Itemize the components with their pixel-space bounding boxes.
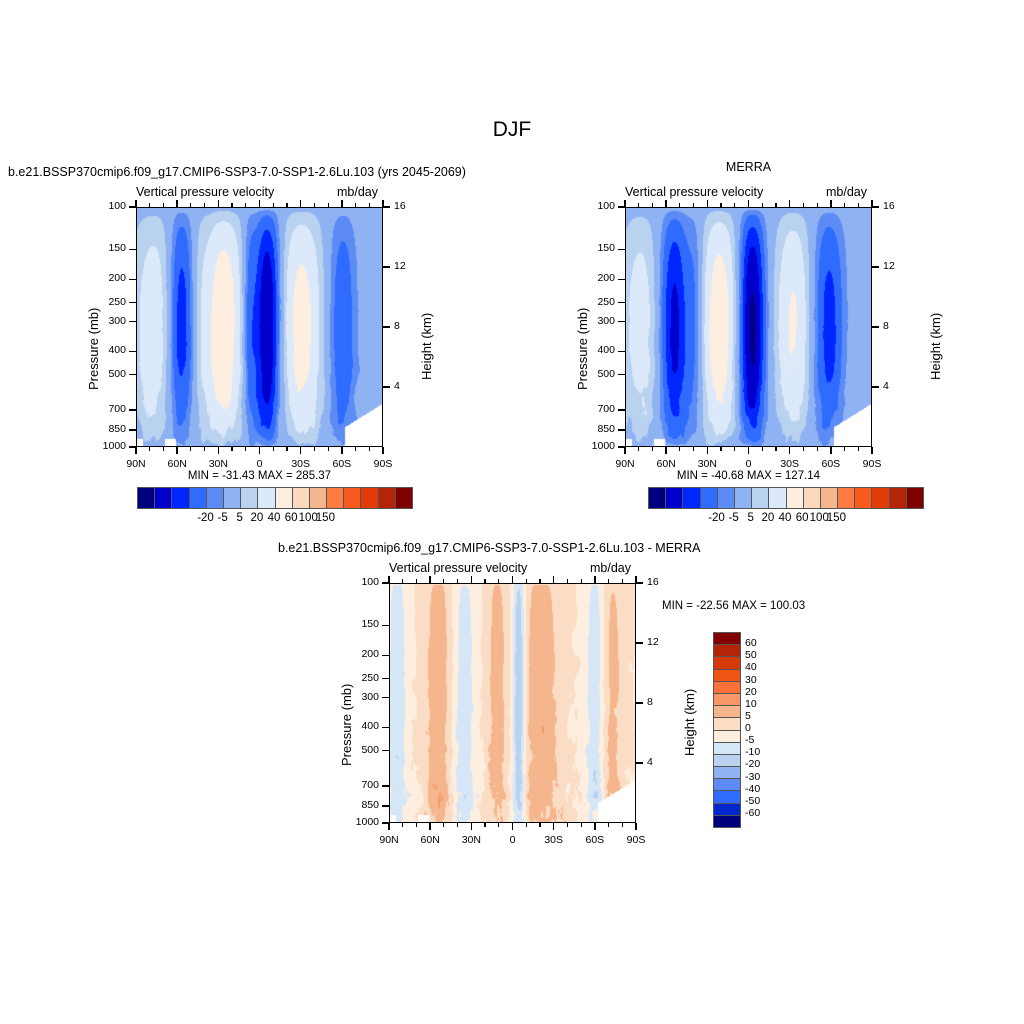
bt-lat-minor-tick-top: [622, 579, 623, 583]
colorbar-diff-tick-label: -40: [745, 783, 760, 795]
tr-height-label: 16: [883, 200, 895, 212]
tl-lat-tick-top: [382, 200, 383, 207]
tl-height-tick: [383, 206, 390, 207]
tl-pressure-label: 1000: [88, 440, 126, 452]
bt-lat-minor-tick-top: [457, 579, 458, 583]
colorbar-cell: [714, 633, 740, 645]
bt-height-label: 4: [647, 756, 653, 768]
panel-top-right-y2label: Height (km): [928, 313, 943, 380]
bt-lat-minor-tick: [608, 823, 609, 827]
bt-pressure-label: 200: [341, 648, 379, 660]
tr-lat-label: 90N: [605, 458, 645, 470]
colorbar-cell: [683, 488, 700, 508]
colorbar-cell: [714, 682, 740, 694]
bt-pressure-tick: [382, 805, 389, 806]
colorbar-cell: [838, 488, 855, 508]
tr-pressure-tick: [618, 249, 625, 250]
tr-lat-minor-tick: [858, 447, 859, 451]
tl-pressure-tick: [129, 374, 136, 375]
colorbar-cell: [714, 743, 740, 755]
tl-lat-minor-tick: [328, 447, 329, 451]
tl-lat-tick-top: [259, 200, 260, 207]
bt-pressure-label: 300: [341, 691, 379, 703]
tl-pressure-label: 100: [88, 200, 126, 212]
bt-lat-minor-tick: [484, 823, 485, 827]
colorbar-cell: [714, 706, 740, 718]
tr-pressure-label: 500: [577, 368, 615, 380]
colorbar-cell: [890, 488, 907, 508]
tr-lat-minor-tick-top: [734, 203, 735, 207]
bt-lat-label: 60N: [410, 834, 450, 846]
colorbar-cell: [155, 488, 172, 508]
colorbar-diff-tick-label: -30: [745, 771, 760, 783]
tl-pressure-label: 300: [88, 315, 126, 327]
colorbar-cell: [701, 488, 718, 508]
colorbar-diff-tick-label: 30: [745, 674, 757, 686]
colorbar-cell: [714, 670, 740, 682]
tl-pressure-tick: [129, 409, 136, 410]
tr-pressure-label: 150: [577, 242, 615, 254]
tl-pressure-label: 150: [88, 242, 126, 254]
colorbar-cell: [714, 731, 740, 743]
panel-top-left-title: b.e21.BSSP370cmip6.f09_g17.CMIP6-SSP3-7.…: [8, 165, 466, 179]
tr-pressure-tick: [618, 351, 625, 352]
tr-pressure-label: 200: [577, 272, 615, 284]
tl-lat-minor-tick-top: [149, 203, 150, 207]
tl-pressure-tick: [129, 321, 136, 322]
tl-pressure-label: 200: [88, 272, 126, 284]
colorbar-diff-tick-label: 50: [745, 649, 757, 661]
bt-lat-minor-tick-top: [581, 579, 582, 583]
tr-height-tick: [872, 386, 879, 387]
tl-lat-minor-tick: [355, 447, 356, 451]
tr-lat-minor-tick-top: [638, 203, 639, 207]
tl-height-tick: [383, 386, 390, 387]
colorbar-cell: [666, 488, 683, 508]
tr-lat-tick-top: [624, 200, 625, 207]
bt-pressure-tick: [382, 785, 389, 786]
colorbar-cell: [714, 779, 740, 791]
bt-lat-tick: [512, 823, 513, 830]
colorbar-cell: [714, 816, 740, 827]
tl-lat-label: 30N: [198, 458, 238, 470]
bt-lat-tick: [388, 823, 389, 830]
tr-lat-minor-tick: [775, 447, 776, 451]
bt-lat-tick-top: [594, 576, 595, 583]
colorbar-diff-tick-label: 40: [745, 661, 757, 673]
colorbar-cell: [327, 488, 344, 508]
tl-height-label: 4: [394, 380, 400, 392]
panel-top-left-minmax: MIN = -31.43 MAX = 285.37: [136, 470, 383, 482]
panel-top-left-colorbar[interactable]: [137, 487, 413, 509]
bt-height-tick: [636, 582, 643, 583]
bt-lat-label: 90N: [369, 834, 409, 846]
tr-pressure-label: 100: [577, 200, 615, 212]
panel-top-right-minmax: MIN = -40.68 MAX = 127.14: [625, 470, 872, 482]
colorbar-cell: [821, 488, 838, 508]
bt-lat-minor-tick-top: [526, 579, 527, 583]
tl-lat-label: 90S: [363, 458, 403, 470]
bt-height-tick: [636, 642, 643, 643]
tl-lat-tick-top: [300, 200, 301, 207]
bt-lat-minor-tick-top: [498, 579, 499, 583]
tl-lat-minor-tick: [273, 447, 274, 451]
tl-pressure-tick: [129, 249, 136, 250]
bt-height-tick: [636, 702, 643, 703]
tl-lat-minor-tick-top: [273, 203, 274, 207]
colorbar-cell: [769, 488, 786, 508]
tr-lat-minor-tick-top: [844, 203, 845, 207]
tr-pressure-label: 700: [577, 403, 615, 415]
tl-pressure-tick: [129, 279, 136, 280]
bt-lat-minor-tick: [539, 823, 540, 827]
tr-lat-tick: [707, 447, 708, 454]
tr-lat-tick: [748, 447, 749, 454]
colorbar-diff-tick-label: 5: [745, 710, 751, 722]
tr-lat-minor-tick: [817, 447, 818, 451]
tl-lat-minor-tick: [286, 447, 287, 451]
colorbar-cell: [241, 488, 258, 508]
colorbar-cell: [872, 488, 889, 508]
tl-height-label: 8: [394, 320, 400, 332]
tl-lat-minor-tick: [190, 447, 191, 451]
tr-lat-minor-tick: [803, 447, 804, 451]
tr-lat-minor-tick: [638, 447, 639, 451]
tr-height-tick: [872, 266, 879, 267]
tl-lat-tick-top: [341, 200, 342, 207]
colorbar-cell: [855, 488, 872, 508]
colorbar-cell: [752, 488, 769, 508]
tr-lat-tick: [871, 447, 872, 454]
bt-lat-minor-tick-top: [416, 579, 417, 583]
colorbar-cell: [138, 488, 155, 508]
tl-height-tick: [383, 326, 390, 327]
bt-pressure-tick: [382, 697, 389, 698]
tl-lat-minor-tick-top: [314, 203, 315, 207]
panel-top-right-title: MERRA: [625, 160, 872, 174]
bt-pressure-label: 250: [341, 672, 379, 684]
tl-pressure-label: 700: [88, 403, 126, 415]
tl-pressure-label: 500: [88, 368, 126, 380]
colorbar-cell: [361, 488, 378, 508]
bt-lat-minor-tick: [567, 823, 568, 827]
tr-lat-tick-top: [871, 200, 872, 207]
colorbar-cell: [224, 488, 241, 508]
tr-lat-label: 90S: [852, 458, 892, 470]
tr-pressure-label: 300: [577, 315, 615, 327]
tr-lat-minor-tick-top: [803, 203, 804, 207]
bt-pressure-label: 100: [341, 576, 379, 588]
tr-height-label: 8: [883, 320, 889, 332]
bt-lat-minor-tick: [443, 823, 444, 827]
panel-bottom-colorbar[interactable]: [713, 632, 741, 828]
bt-height-tick: [636, 762, 643, 763]
colorbar-diff-tick-label: 10: [745, 698, 757, 710]
bt-height-label: 12: [647, 636, 659, 648]
tr-lat-minor-tick-top: [679, 203, 680, 207]
tr-pressure-label: 250: [577, 296, 615, 308]
tr-lat-tick: [624, 447, 625, 454]
colorbar-diff-tick-label: -5: [745, 734, 754, 746]
bt-lat-tick: [553, 823, 554, 830]
colorbar-cell: [344, 488, 361, 508]
tr-pressure-tick: [618, 302, 625, 303]
tl-lat-tick: [382, 447, 383, 454]
bt-lat-minor-tick-top: [567, 579, 568, 583]
tr-pressure-tick: [618, 429, 625, 430]
tr-lat-minor-tick: [734, 447, 735, 451]
tr-pressure-label: 400: [577, 344, 615, 356]
tr-lat-minor-tick-top: [817, 203, 818, 207]
bt-pressure-label: 700: [341, 779, 379, 791]
bt-lat-minor-tick-top: [402, 579, 403, 583]
tl-pressure-tick: [129, 429, 136, 430]
bt-lat-tick: [471, 823, 472, 830]
tr-lat-minor-tick-top: [652, 203, 653, 207]
colorbar-cell: [293, 488, 310, 508]
bt-lat-minor-tick-top: [539, 579, 540, 583]
colorbar-cell: [207, 488, 224, 508]
bt-lat-minor-tick: [498, 823, 499, 827]
tr-lat-minor-tick: [693, 447, 694, 451]
tr-lat-minor-tick: [720, 447, 721, 451]
tl-lat-label: 90N: [116, 458, 156, 470]
colorbar-cell: [714, 718, 740, 730]
bt-pressure-label: 850: [341, 799, 379, 811]
tr-pressure-tick: [618, 374, 625, 375]
bt-lat-label: 30N: [451, 834, 491, 846]
bt-lat-tick-top: [635, 576, 636, 583]
tl-lat-tick: [135, 447, 136, 454]
tr-pressure-label: 850: [577, 423, 615, 435]
panel-bottom-y2label: Height (km): [682, 689, 697, 756]
bt-lat-minor-tick: [526, 823, 527, 827]
tl-lat-minor-tick-top: [204, 203, 205, 207]
bt-lat-label: 0: [493, 834, 533, 846]
tr-lat-tick: [830, 447, 831, 454]
tl-lat-tick: [341, 447, 342, 454]
tl-lat-label: 30S: [281, 458, 321, 470]
bt-lat-minor-tick: [416, 823, 417, 827]
bt-lat-minor-tick: [457, 823, 458, 827]
tl-height-tick: [383, 266, 390, 267]
colorbar-cell: [714, 804, 740, 816]
bt-pressure-tick: [382, 655, 389, 656]
bt-lat-tick-top: [388, 576, 389, 583]
bt-height-label: 8: [647, 696, 653, 708]
tl-height-label: 16: [394, 200, 406, 212]
bt-lat-minor-tick: [402, 823, 403, 827]
panel-top-right-plot[interactable]: [625, 207, 872, 447]
tr-lat-label: 60N: [646, 458, 686, 470]
tl-lat-tick: [300, 447, 301, 454]
tl-lat-minor-tick: [163, 447, 164, 451]
tl-lat-minor-tick-top: [355, 203, 356, 207]
tr-lat-minor-tick-top: [693, 203, 694, 207]
colorbar-diff-tick-label: -20: [745, 758, 760, 770]
tl-pressure-tick: [129, 351, 136, 352]
tr-pressure-tick: [618, 279, 625, 280]
panel-top-right-units-label: mb/day: [826, 185, 867, 199]
colorbar-diff-tick-label: 60: [745, 637, 757, 649]
colorbar-tick-label-right: 150: [818, 512, 854, 524]
panel-bottom-plot[interactable]: [389, 583, 636, 823]
tr-lat-minor-tick-top: [720, 203, 721, 207]
colorbar-tick-label-left: 150: [307, 512, 343, 524]
colorbar-diff-tick-label: -10: [745, 746, 760, 758]
colorbar-cell: [379, 488, 396, 508]
tr-lat-minor-tick: [844, 447, 845, 451]
tr-height-tick: [872, 326, 879, 327]
tl-pressure-label: 850: [88, 423, 126, 435]
tl-lat-label: 60N: [157, 458, 197, 470]
bt-lat-tick-top: [512, 576, 513, 583]
colorbar-cell: [714, 767, 740, 779]
bt-pressure-tick: [382, 678, 389, 679]
panel-top-right-colorbar[interactable]: [648, 487, 924, 509]
tr-lat-minor-tick: [679, 447, 680, 451]
colorbar-cell: [714, 657, 740, 669]
tl-lat-minor-tick: [245, 447, 246, 451]
tl-lat-minor-tick: [204, 447, 205, 451]
tr-height-label: 12: [883, 260, 895, 272]
colorbar-diff-tick-label: -60: [745, 807, 760, 819]
tr-lat-tick-top: [789, 200, 790, 207]
colorbar-cell: [718, 488, 735, 508]
tr-pressure-tick: [618, 321, 625, 322]
colorbar-cell: [714, 694, 740, 706]
colorbar-cell: [907, 488, 923, 508]
panel-top-left-variable-label: Vertical pressure velocity: [136, 185, 274, 199]
tl-lat-tick: [218, 447, 219, 454]
bt-lat-minor-tick-top: [443, 579, 444, 583]
tr-lat-tick-top: [830, 200, 831, 207]
bt-pressure-tick: [382, 727, 389, 728]
tl-lat-minor-tick: [369, 447, 370, 451]
tl-lat-tick: [259, 447, 260, 454]
tl-lat-minor-tick-top: [369, 203, 370, 207]
tr-lat-label: 30S: [770, 458, 810, 470]
bt-pressure-tick: [382, 750, 389, 751]
tr-lat-tick: [665, 447, 666, 454]
tr-lat-label: 0: [729, 458, 769, 470]
colorbar-cell: [714, 755, 740, 767]
colorbar-cell: [735, 488, 752, 508]
tr-lat-minor-tick: [762, 447, 763, 451]
colorbar-cell: [190, 488, 207, 508]
tr-lat-label: 30N: [687, 458, 727, 470]
page-title: DJF: [0, 118, 1024, 142]
tl-lat-minor-tick: [314, 447, 315, 451]
panel-top-left-units-label: mb/day: [337, 185, 378, 199]
colorbar-cell: [310, 488, 327, 508]
tl-lat-tick: [176, 447, 177, 454]
tl-lat-minor-tick-top: [328, 203, 329, 207]
tl-lat-minor-tick-top: [231, 203, 232, 207]
tr-lat-label: 60S: [811, 458, 851, 470]
panel-bottom-minmax: MIN = -22.56 MAX = 100.03: [662, 600, 805, 612]
tr-height-tick: [872, 206, 879, 207]
bt-lat-label: 30S: [534, 834, 574, 846]
tr-lat-minor-tick-top: [858, 203, 859, 207]
bt-pressure-label: 500: [341, 744, 379, 756]
colorbar-cell: [804, 488, 821, 508]
tr-lat-minor-tick-top: [762, 203, 763, 207]
bt-lat-minor-tick: [581, 823, 582, 827]
bt-lat-tick: [594, 823, 595, 830]
colorbar-cell: [714, 791, 740, 803]
tr-height-label: 4: [883, 380, 889, 392]
tl-lat-tick-top: [176, 200, 177, 207]
tl-lat-minor-tick-top: [163, 203, 164, 207]
colorbar-diff-tick-label: 20: [745, 686, 757, 698]
colorbar-cell: [714, 645, 740, 657]
tr-pressure-tick: [618, 409, 625, 410]
bt-lat-tick-top: [553, 576, 554, 583]
tr-lat-tick: [789, 447, 790, 454]
tl-height-label: 12: [394, 260, 406, 272]
panel-bottom-variable-label: Vertical pressure velocity: [389, 561, 527, 575]
tl-lat-label: 0: [240, 458, 280, 470]
tl-lat-minor-tick-top: [286, 203, 287, 207]
tl-pressure-label: 400: [88, 344, 126, 356]
bt-lat-tick: [635, 823, 636, 830]
tr-lat-tick-top: [707, 200, 708, 207]
tl-pressure-tick: [129, 302, 136, 303]
tl-pressure-label: 250: [88, 296, 126, 308]
bt-lat-minor-tick-top: [484, 579, 485, 583]
bt-lat-tick: [429, 823, 430, 830]
tr-lat-tick-top: [748, 200, 749, 207]
bt-lat-minor-tick: [622, 823, 623, 827]
tl-lat-minor-tick: [231, 447, 232, 451]
bt-pressure-label: 150: [341, 618, 379, 630]
bt-lat-label: 60S: [575, 834, 615, 846]
panel-top-left-plot[interactable]: [136, 207, 383, 447]
bt-lat-tick-top: [429, 576, 430, 583]
tr-pressure-label: 1000: [577, 440, 615, 452]
bt-pressure-tick: [382, 625, 389, 626]
tl-lat-minor-tick-top: [190, 203, 191, 207]
bt-lat-label: 90S: [616, 834, 656, 846]
tl-lat-minor-tick: [149, 447, 150, 451]
panel-bottom-title: b.e21.BSSP370cmip6.f09_g17.CMIP6-SSP3-7.…: [278, 541, 700, 555]
bt-pressure-label: 1000: [341, 816, 379, 828]
tr-lat-tick-top: [665, 200, 666, 207]
colorbar-diff-tick-label: 0: [745, 722, 751, 734]
colorbar-cell: [258, 488, 275, 508]
colorbar-diff-tick-label: -50: [745, 795, 760, 807]
colorbar-cell: [276, 488, 293, 508]
panel-bottom-units-label: mb/day: [590, 561, 631, 575]
tl-lat-label: 60S: [322, 458, 362, 470]
tr-lat-minor-tick: [652, 447, 653, 451]
panel-top-right-variable-label: Vertical pressure velocity: [625, 185, 763, 199]
colorbar-cell: [787, 488, 804, 508]
colorbar-cell: [172, 488, 189, 508]
bt-height-label: 16: [647, 576, 659, 588]
colorbar-cell: [396, 488, 412, 508]
colorbar-cell: [649, 488, 666, 508]
bt-lat-tick-top: [471, 576, 472, 583]
tl-lat-tick-top: [135, 200, 136, 207]
tr-lat-minor-tick-top: [775, 203, 776, 207]
tl-lat-minor-tick-top: [245, 203, 246, 207]
tl-lat-tick-top: [218, 200, 219, 207]
bt-lat-minor-tick-top: [608, 579, 609, 583]
panel-top-left-y2label: Height (km): [419, 313, 434, 380]
bt-pressure-label: 400: [341, 720, 379, 732]
